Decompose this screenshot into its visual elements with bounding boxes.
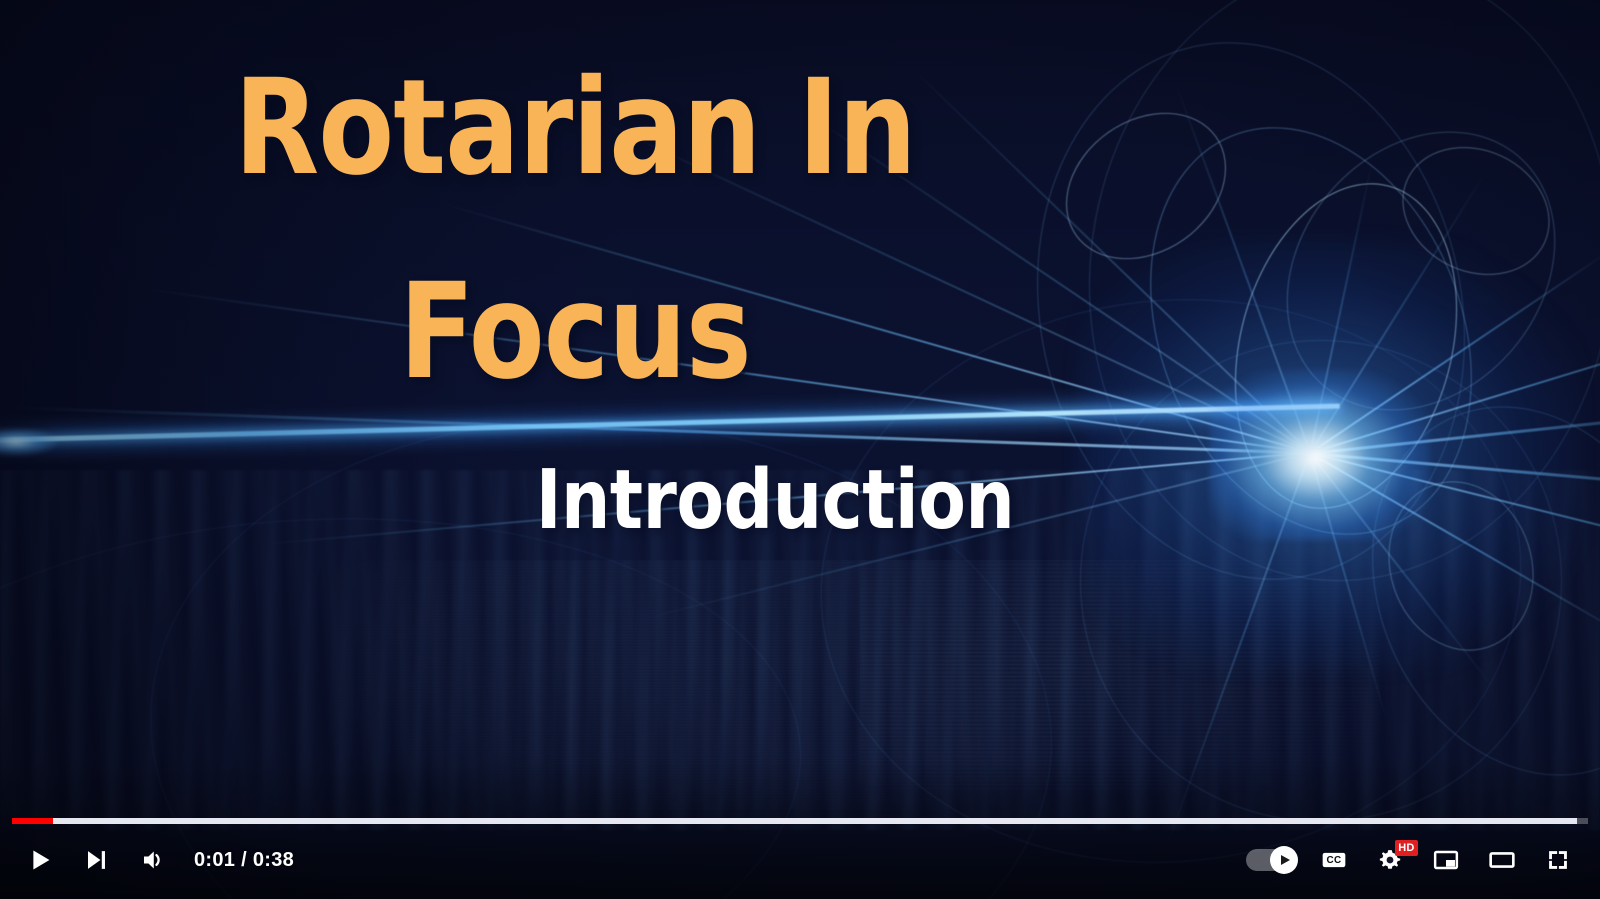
vignette-overlay <box>0 0 1600 899</box>
subtitles-cc-button[interactable]: CC <box>1306 832 1362 888</box>
progress-bar[interactable] <box>12 814 1588 828</box>
svg-text:CC: CC <box>1326 855 1341 866</box>
mute-button[interactable] <box>124 832 180 888</box>
fullscreen-button[interactable] <box>1530 832 1586 888</box>
time-current: 0:01 <box>194 849 235 871</box>
time-duration: 0:38 <box>253 849 294 871</box>
play-icon <box>23 843 57 877</box>
left-controls: 0:01 / 0:38 <box>0 832 304 888</box>
fullscreen-icon <box>1542 844 1574 876</box>
miniplayer-icon <box>1429 843 1463 877</box>
next-track-icon <box>80 844 112 876</box>
theater-mode-icon <box>1485 843 1519 877</box>
volume-icon <box>136 844 168 876</box>
autoplay-toggle[interactable] <box>1236 832 1306 888</box>
closed-captions-icon: CC <box>1317 843 1351 877</box>
time-display: 0:01 / 0:38 <box>180 849 304 872</box>
miniplayer-button[interactable] <box>1418 832 1474 888</box>
time-separator: / <box>241 849 247 871</box>
autoplay-toggle-knob <box>1270 846 1298 874</box>
play-pause-button[interactable] <box>12 832 68 888</box>
hd-quality-badge: HD <box>1395 840 1418 856</box>
right-controls: CC HD <box>1236 832 1600 888</box>
autoplay-play-icon <box>1281 855 1290 865</box>
controls-button-row: 0:01 / 0:38 CC <box>0 831 1600 889</box>
theater-mode-button[interactable] <box>1474 832 1530 888</box>
progress-loaded-buffer <box>12 818 1577 824</box>
next-video-button[interactable] <box>68 832 124 888</box>
progress-track[interactable] <box>12 818 1588 824</box>
video-player[interactable]: Rotarian In Focus Introduction <box>0 0 1600 899</box>
settings-gear-button[interactable]: HD <box>1362 832 1418 888</box>
autoplay-toggle-track <box>1246 849 1296 871</box>
player-controls-bar[interactable]: 0:01 / 0:38 CC <box>0 807 1600 899</box>
